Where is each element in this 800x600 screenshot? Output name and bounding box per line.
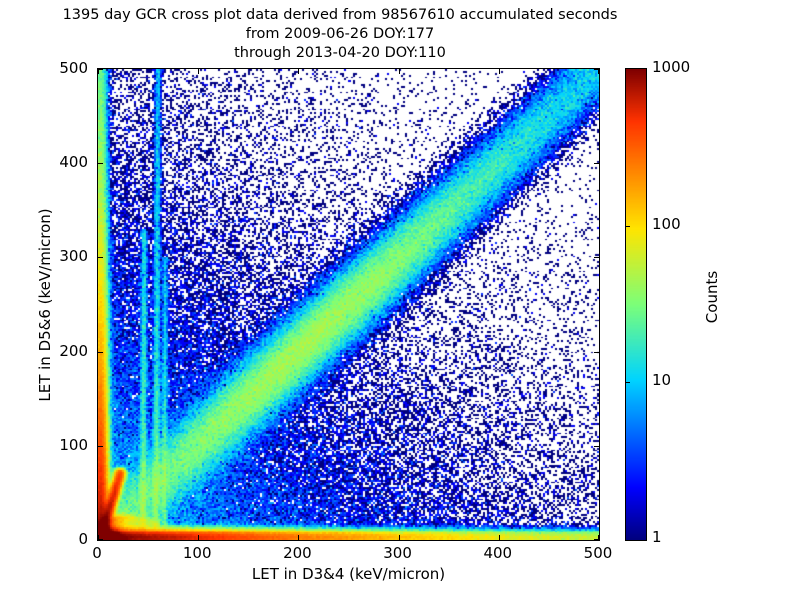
- x-tick-4: [499, 535, 500, 540]
- x-tick-label-1: 100: [162, 544, 232, 562]
- x-tick-2: [298, 535, 299, 540]
- y-tick-0: [98, 539, 103, 540]
- y-tick-3: [98, 257, 103, 258]
- y-tick-5: [98, 69, 103, 70]
- x-tick-top-2: [298, 69, 299, 74]
- colorbar-tick-2: [626, 226, 630, 227]
- y-tick-2: [98, 352, 103, 353]
- plot-area: [97, 68, 600, 541]
- figure-title: 1395 day GCR cross plot data derived fro…: [0, 6, 680, 63]
- y-tick-right-1: [594, 446, 599, 447]
- y-tick-right-5: [594, 69, 599, 70]
- y-tick-label-0: 0: [28, 530, 88, 548]
- colorbar-gradient: [626, 69, 646, 540]
- x-tick-3: [399, 535, 400, 540]
- y-tick-1: [98, 446, 103, 447]
- y-axis-label: LET in D5&6 (keV/micron): [36, 155, 54, 455]
- title-line-3: through 2013-04-20 DOY:110: [0, 44, 680, 63]
- y-tick-right-4: [594, 163, 599, 164]
- colorbar-tick-label-0: 1: [652, 528, 662, 546]
- x-tick-label-5: 500: [563, 544, 633, 562]
- x-tick-label-3: 300: [363, 544, 433, 562]
- colorbar-tick-label-2: 100: [652, 215, 681, 233]
- y-tick-label-5: 500: [28, 59, 88, 77]
- y-tick-right-2: [594, 352, 599, 353]
- title-line-2: from 2009-06-26 DOY:177: [0, 25, 680, 44]
- colorbar-tick-1: [626, 382, 630, 383]
- y-tick-4: [98, 163, 103, 164]
- figure-canvas: 1395 day GCR cross plot data derived fro…: [0, 0, 800, 600]
- x-tick-top-3: [399, 69, 400, 74]
- x-tick-1: [198, 535, 199, 540]
- x-axis-label: LET in D3&4 (keV/micron): [97, 565, 600, 583]
- title-line-1: 1395 day GCR cross plot data derived fro…: [0, 6, 680, 25]
- y-tick-right-0: [594, 539, 599, 540]
- x-tick-top-4: [499, 69, 500, 74]
- colorbar-title: Counts: [703, 217, 721, 377]
- colorbar: [625, 68, 647, 541]
- colorbar-tick-label-3: 1000: [652, 58, 690, 76]
- y-tick-right-3: [594, 257, 599, 258]
- x-tick-label-2: 200: [262, 544, 332, 562]
- colorbar-tick-label-1: 10: [652, 371, 671, 389]
- density-heatmap: [98, 69, 599, 540]
- x-tick-top-1: [198, 69, 199, 74]
- x-tick-label-4: 400: [463, 544, 533, 562]
